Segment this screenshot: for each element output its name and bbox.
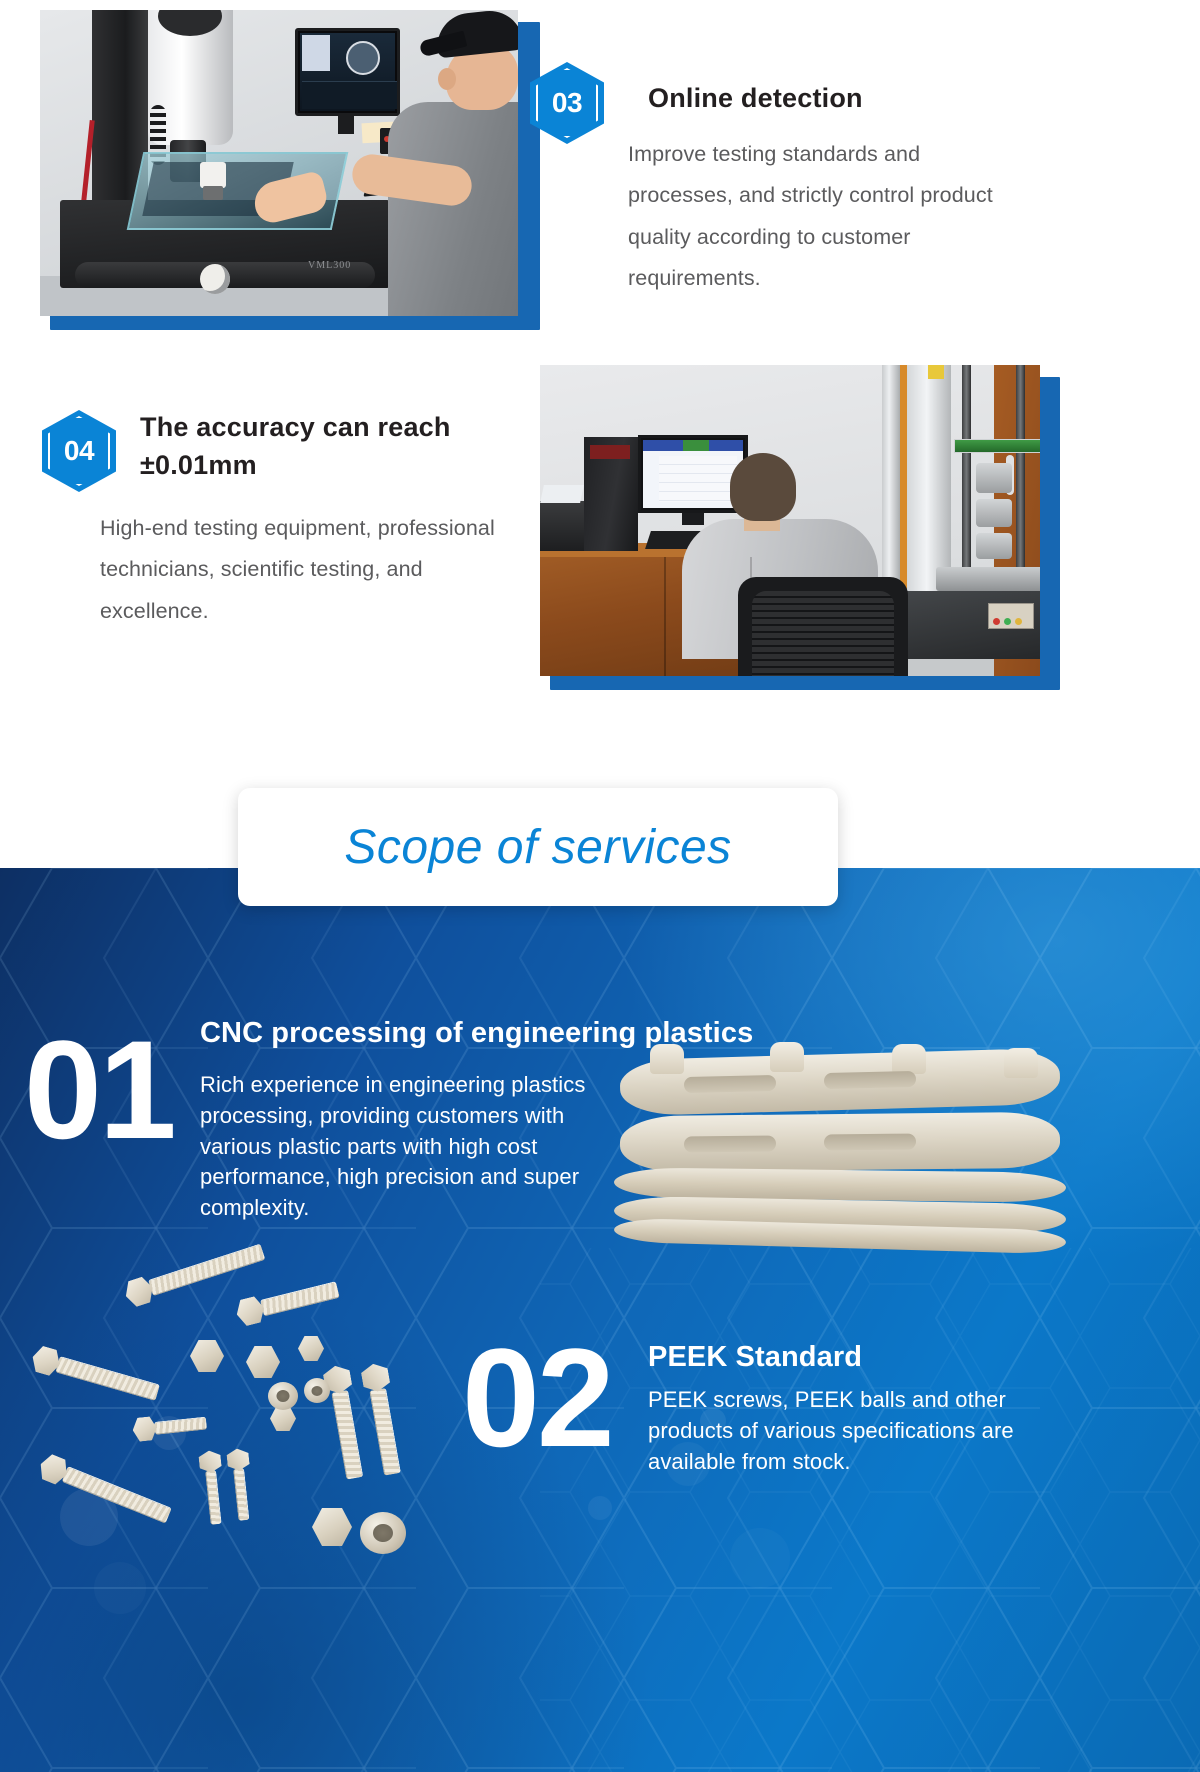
marketing-page: VML300 03 Online detection Impr <box>0 0 1200 1772</box>
feature-title-04: The accuracy can reach ±0.01mm <box>140 408 520 485</box>
feature-badge-03: 03 <box>530 62 604 144</box>
service-title-01: CNC processing of engineering plastics <box>200 1016 960 1051</box>
online-detection-photo-frame: VML300 <box>40 10 540 330</box>
feature-badge-04: 04 <box>42 410 116 492</box>
photo-scene-1: VML300 <box>40 10 518 316</box>
feature-badge-number: 04 <box>64 437 94 465</box>
features-section: VML300 03 Online detection Impr <box>0 0 1200 868</box>
peek-fasteners-image <box>30 1270 500 1560</box>
feature-title-03: Online detection <box>648 79 1028 117</box>
scope-title-text: Scope of services <box>344 820 731 875</box>
scope-title-card: Scope of services <box>238 788 838 906</box>
service-body-02: PEEK screws, PEEK balls and other produc… <box>648 1385 1018 1477</box>
tensile-testing-machine-photo <box>540 365 1040 676</box>
feature-body-03: Improve testing standards and processes,… <box>628 134 1020 300</box>
service-title-02: PEEK Standard <box>648 1340 1068 1375</box>
service-body-01: Rich experience in engineering plastics … <box>200 1070 620 1224</box>
feature-badge-number: 03 <box>552 89 582 117</box>
photo-scene-2 <box>540 365 1040 676</box>
service-number-01: 01 <box>24 1020 174 1160</box>
accuracy-photo-frame <box>540 365 1060 690</box>
feature-body-04: High-end testing equipment, professional… <box>100 508 530 632</box>
vision-measuring-machine-photo: VML300 <box>40 10 518 316</box>
peek-machined-part-image <box>620 1048 1060 1268</box>
machine-model-label: VML300 <box>308 260 351 271</box>
